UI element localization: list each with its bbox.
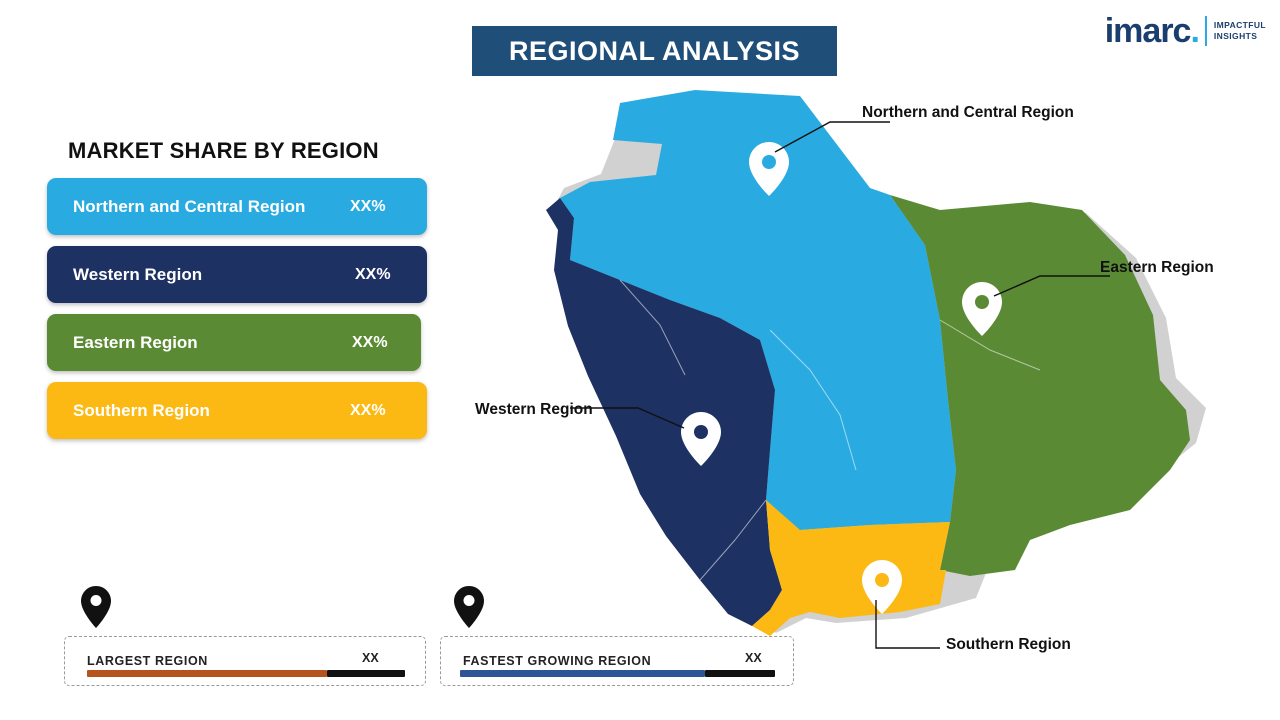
- market-share-heading: MARKET SHARE BY REGION: [68, 138, 379, 164]
- callout-label-western: Western Region: [475, 401, 593, 419]
- imarc-logo: imarc. IMPACTFUL INSIGHTS: [1105, 14, 1266, 48]
- legend-label-southern: Southern Region: [47, 400, 210, 421]
- legend-value-southern: XX%: [350, 402, 386, 420]
- logo-accent-dot: .: [1190, 12, 1198, 50]
- fastest-growing-region-bar-accent: [460, 670, 705, 677]
- largest-region-pin-icon: [78, 584, 114, 630]
- logo-text: imarc: [1105, 12, 1191, 50]
- callout-label-southern: Southern Region: [946, 636, 1071, 654]
- legend-item-southern[interactable]: Southern Region XX%: [47, 382, 427, 439]
- fastest-growing-region-box: FASTEST GROWING REGION XX: [440, 636, 794, 686]
- logo-tagline-line2: INSIGHTS: [1214, 31, 1266, 42]
- largest-region-bar-track: [327, 670, 405, 677]
- logo-wordmark: imarc.: [1105, 14, 1199, 48]
- fastest-growing-region-value: XX: [745, 651, 762, 665]
- callout-label-eastern: Eastern Region: [1100, 259, 1214, 277]
- legend-label-western: Western Region: [47, 264, 202, 285]
- logo-tagline-line1: IMPACTFUL: [1214, 20, 1266, 31]
- fastest-growing-region-pin-icon: [451, 584, 487, 630]
- legend-value-eastern: XX%: [352, 334, 388, 352]
- legend-item-eastern[interactable]: Eastern Region XX%: [47, 314, 421, 371]
- largest-region-value: XX: [362, 651, 379, 665]
- largest-region-bar-accent: [87, 670, 327, 677]
- fastest-growing-region-label: FASTEST GROWING REGION: [441, 654, 651, 668]
- fastest-growing-region-bar-track: [705, 670, 775, 677]
- saudi-arabia-region-map: [470, 70, 1260, 650]
- region-legend-list: Northern and Central Region XX% Western …: [47, 178, 427, 450]
- legend-value-northern-and-central: XX%: [350, 198, 386, 216]
- legend-label-northern-and-central: Northern and Central Region: [47, 196, 305, 217]
- largest-region-label: LARGEST REGION: [65, 654, 208, 668]
- legend-value-western: XX%: [355, 266, 391, 284]
- page-title-banner: REGIONAL ANALYSIS: [472, 26, 837, 76]
- legend-item-northern-and-central[interactable]: Northern and Central Region XX%: [47, 178, 427, 235]
- legend-item-western[interactable]: Western Region XX%: [47, 246, 427, 303]
- page-title: REGIONAL ANALYSIS: [509, 36, 800, 67]
- logo-divider: [1205, 16, 1207, 46]
- logo-tagline: IMPACTFUL INSIGHTS: [1214, 20, 1266, 43]
- legend-label-eastern: Eastern Region: [47, 332, 198, 353]
- largest-region-box: LARGEST REGION XX: [64, 636, 426, 686]
- callout-label-northern-and-central: Northern and Central Region: [862, 104, 1074, 122]
